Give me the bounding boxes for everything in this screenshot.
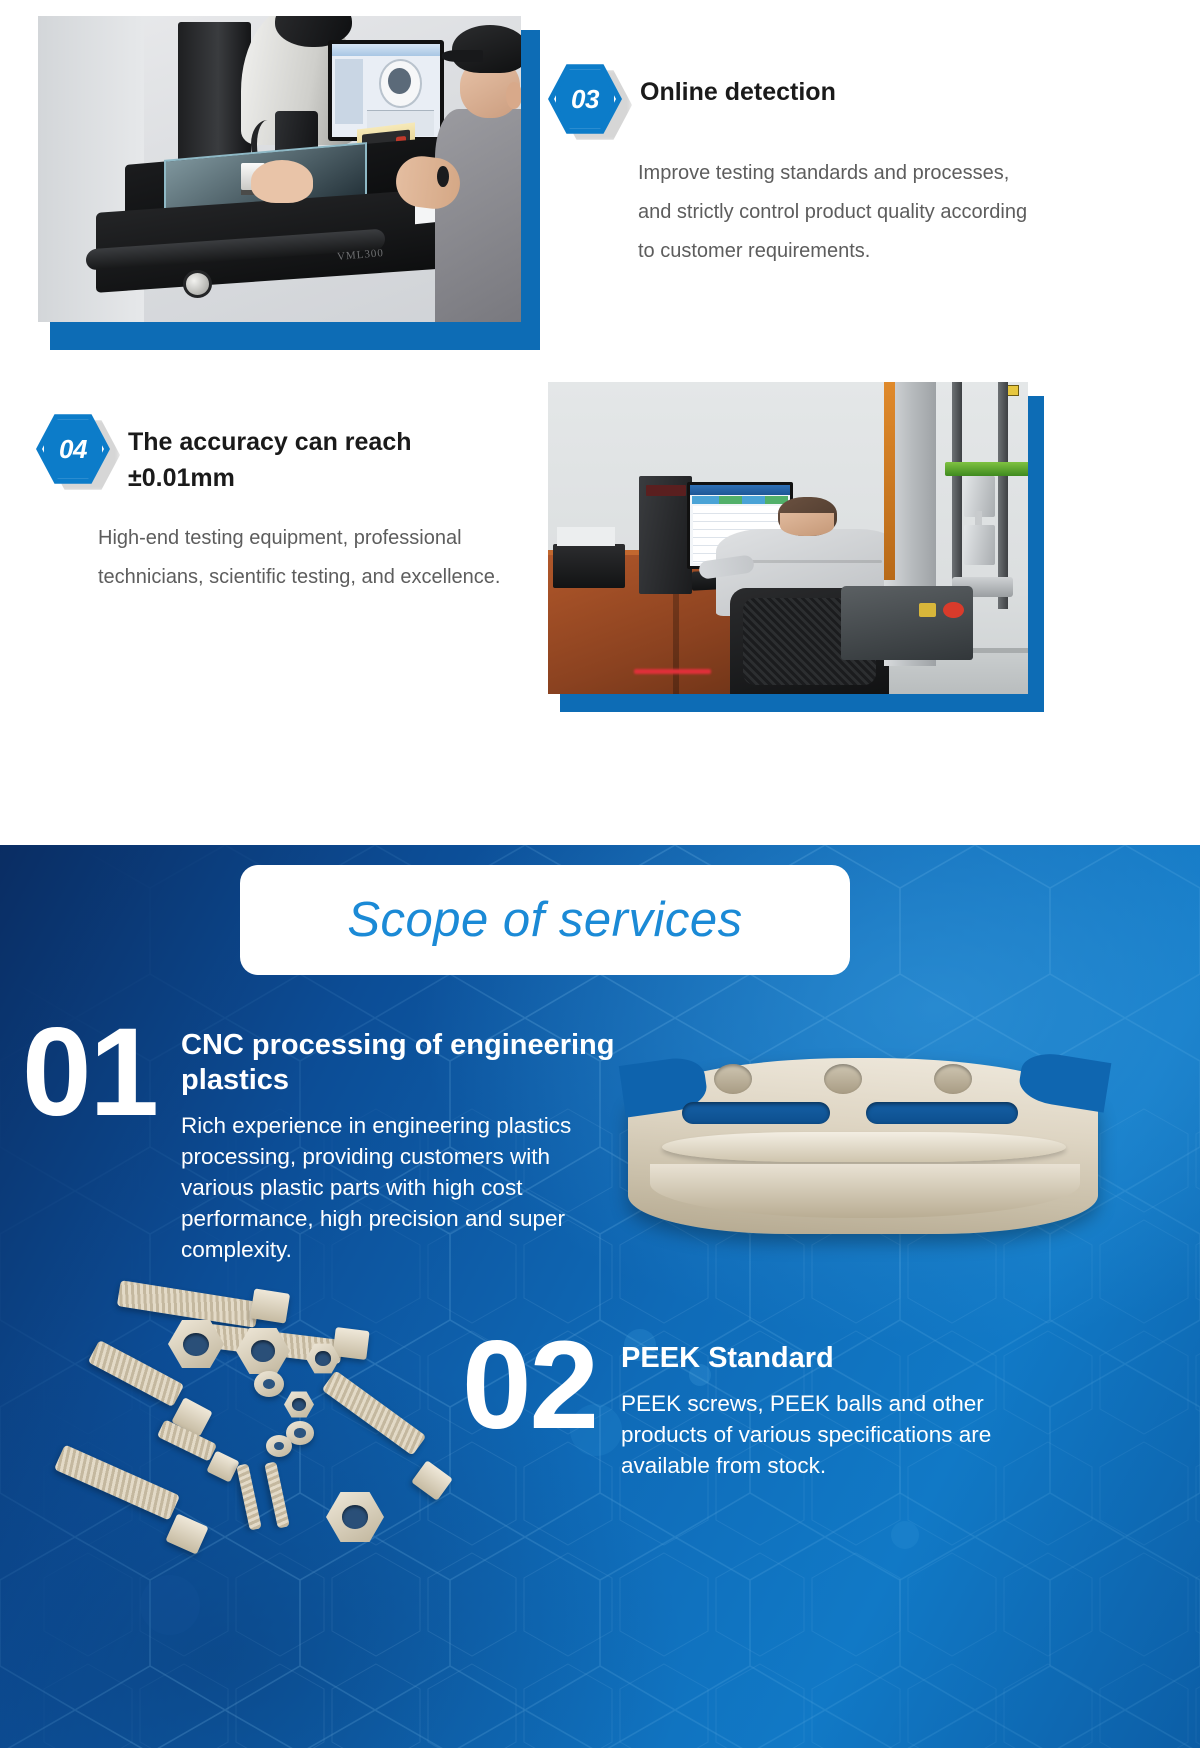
service-01-number: 01 xyxy=(22,1015,157,1131)
photo2-tester-column-left xyxy=(952,382,963,609)
chain-hole-3 xyxy=(934,1064,972,1094)
hexagon-number-text: 04 xyxy=(36,412,110,486)
chain-slot-1 xyxy=(682,1102,830,1124)
product-image-peek-chain-link xyxy=(628,1040,1098,1260)
bolt-head xyxy=(165,1513,208,1554)
photo-frame-1: VML300 xyxy=(38,16,521,322)
photo1-operator-cap xyxy=(452,25,521,73)
pin-shaft xyxy=(236,1463,261,1530)
peek-washer-1 xyxy=(254,1371,284,1397)
service-01-body: Rich experience in engineering plastics … xyxy=(181,1110,626,1265)
photo1-operator-body xyxy=(435,109,521,322)
photo1-operator-ear xyxy=(506,82,521,109)
photo2-shirt-fold xyxy=(732,560,882,563)
photo1-adjust-knob xyxy=(183,270,212,298)
feature-block-03: 03 Online detection Improve testing stan… xyxy=(548,62,1048,271)
photo-tensile-testing-lab xyxy=(548,382,1038,704)
service-block-01: 01 CNC processing of engineering plastic… xyxy=(22,1015,682,1265)
photo2-floor-reflection xyxy=(634,669,711,674)
photo2-lower-grip xyxy=(964,525,995,565)
chain-hole-2 xyxy=(824,1064,862,1094)
peek-nut-5 xyxy=(326,1491,384,1543)
pin-shaft xyxy=(264,1461,289,1528)
photo1-mouse xyxy=(437,166,449,187)
photo1-screen-toolbar xyxy=(332,44,440,55)
scope-of-services-section: Scope of services 01 CNC processing of e… xyxy=(0,845,1200,1748)
photo1-screen-panel xyxy=(335,59,363,124)
peek-washer-3 xyxy=(266,1435,292,1457)
hexagon-number-badge-03: 03 xyxy=(548,62,622,136)
feature-03-body: Improve testing standards and processes,… xyxy=(638,154,1038,271)
feature-block-04: 04 The accuracy can reach ±0.01mm High-e… xyxy=(36,412,536,597)
photo1-screen xyxy=(332,44,440,137)
service-01-title: CNC processing of engineering plastics xyxy=(181,1028,626,1098)
hexagon-number-badge-04: 04 xyxy=(36,412,110,486)
bolt-shaft xyxy=(88,1340,184,1407)
photo-frame-2 xyxy=(548,382,1028,694)
product-image-peek-fasteners xyxy=(40,1283,460,1593)
chain-slot-2 xyxy=(866,1102,1018,1124)
peek-nut-4 xyxy=(284,1391,314,1418)
section-title-text: Scope of services xyxy=(347,892,742,948)
photo2-operator-head xyxy=(778,497,837,535)
photo2-tester-column-right xyxy=(998,382,1009,609)
top-features-section: VML300 03 Online detection Improve testi… xyxy=(0,0,1200,845)
bolt-shaft xyxy=(322,1370,427,1455)
hexagon-number-text: 03 xyxy=(548,62,622,136)
feature-04-header: 04 The accuracy can reach ±0.01mm xyxy=(36,412,536,497)
bolt-head xyxy=(411,1460,453,1501)
photo1-operator-hand xyxy=(251,160,314,203)
bolt-shaft xyxy=(54,1445,180,1521)
service-block-02: 02 PEEK Standard PEEK screws, PEEK balls… xyxy=(462,1328,1082,1481)
photo1-screen-measurement-circle xyxy=(379,59,422,107)
chain-ridge-upper xyxy=(662,1132,1066,1162)
photo2-screen-titlebar xyxy=(690,485,790,496)
photo2-control-console xyxy=(841,586,973,661)
feature-04-body: High-end testing equipment, professional… xyxy=(98,519,538,597)
photo-optical-measuring-machine: VML300 xyxy=(38,16,528,336)
service-02-title: PEEK Standard xyxy=(621,1341,1041,1376)
photo2-crosshead-bar xyxy=(945,462,1028,476)
photo2-printer xyxy=(553,544,625,588)
service-02-body: PEEK screws, PEEK balls and other produc… xyxy=(621,1388,1041,1481)
photo1-operator xyxy=(439,22,521,322)
bolt-head xyxy=(250,1288,290,1323)
photo2-pc-tower xyxy=(639,476,692,595)
service-01-text: CNC processing of engineering plastics R… xyxy=(181,1015,626,1265)
feature-03-header: 03 Online detection xyxy=(548,62,1048,136)
photo2-orange-stripe xyxy=(884,382,895,580)
service-02-number: 02 xyxy=(462,1328,597,1444)
photo2-tensile-tester xyxy=(884,382,1028,666)
section-title-card: Scope of services xyxy=(240,865,850,975)
feature-03-title: Online detection xyxy=(640,62,836,110)
chain-hole-1 xyxy=(714,1064,752,1094)
feature-04-title: The accuracy can reach ±0.01mm xyxy=(128,412,488,497)
service-02-text: PEEK Standard PEEK screws, PEEK balls an… xyxy=(621,1328,1041,1481)
photo2-warning-label xyxy=(1007,385,1019,396)
